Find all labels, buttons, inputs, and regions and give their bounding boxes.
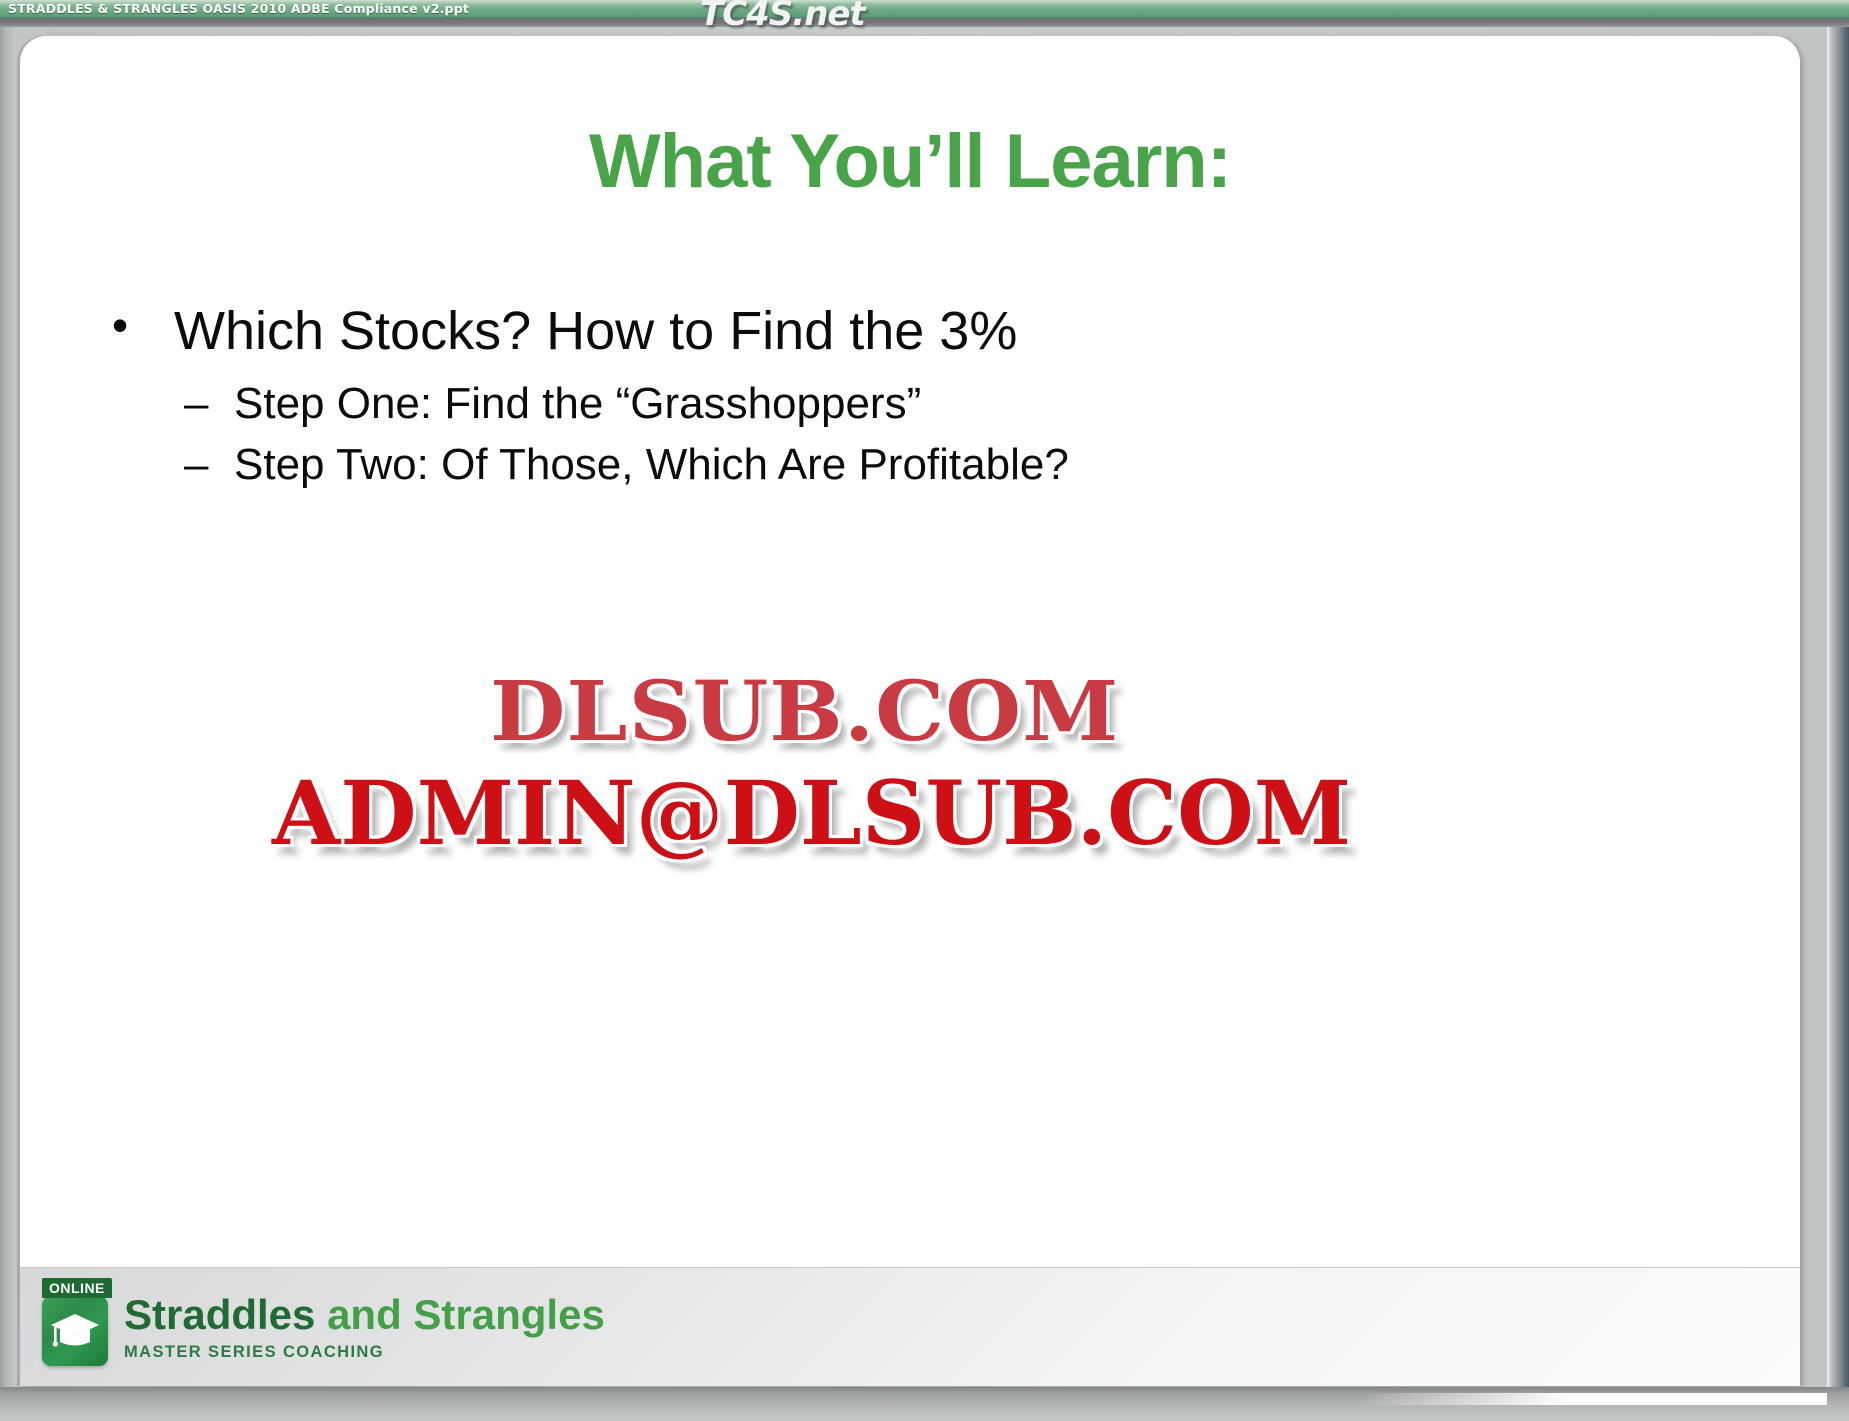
brand-logo: ONLINE Straddles and Strangles: [32, 1278, 605, 1374]
window-title-text: STRADDLES & STRANGLES OASIS 2010 ADBE Co…: [8, 1, 469, 16]
bullet-marker-dash: –: [184, 378, 234, 431]
presentation-slide: What You’ll Learn: • Which Stocks? How t…: [20, 36, 1800, 1386]
page-title: What You’ll Learn:: [20, 118, 1800, 205]
window-bottom-bar: [0, 1387, 1849, 1421]
logo-tile: [42, 1296, 108, 1366]
slide-footer: ONLINE Straddles and Strangles: [20, 1267, 1800, 1386]
online-badge: ONLINE: [42, 1278, 112, 1298]
logo-title: Straddles and Strangles: [124, 1294, 605, 1336]
bullet-text: Which Stocks? How to Find the 3%: [174, 300, 1017, 362]
bottom-bar-highlight: [1357, 1393, 1827, 1405]
bullet-list: • Which Stocks? How to Find the 3% – Ste…: [112, 300, 1672, 500]
titlebar-underline: [0, 18, 1849, 27]
window-left-edge: [0, 27, 6, 1397]
vertical-scrollbar[interactable]: [1827, 27, 1849, 1397]
site-watermark-tc4s: TC4S.net: [700, 0, 865, 34]
logo-title-primary: Straddles: [124, 1291, 315, 1338]
bullet-text: Step Two: Of Those, Which Are Profitable…: [234, 439, 1069, 492]
graduation-cap-icon: [50, 1312, 100, 1352]
bullet-marker-dot: •: [112, 300, 174, 351]
watermark-email: ADMIN@DLSUB.COM: [272, 761, 1351, 865]
bullet-item-level2: – Step One: Find the “Grasshoppers”: [184, 378, 1672, 431]
bullet-text: Step One: Find the “Grasshoppers”: [234, 378, 921, 431]
logo-subtitle: MASTER SERIES COACHING: [124, 1343, 605, 1362]
window-titlebar: STRADDLES & STRANGLES OASIS 2010 ADBE Co…: [0, 0, 1849, 18]
watermark-domain: DLSUB.COM: [490, 664, 1119, 760]
application-window: STRADDLES & STRANGLES OASIS 2010 ADBE Co…: [0, 0, 1849, 1421]
bullet-item-level1: • Which Stocks? How to Find the 3%: [112, 300, 1672, 362]
bullet-marker-dash: –: [184, 439, 234, 492]
logo-title-secondary: and Strangles: [315, 1291, 604, 1338]
bullet-item-level2: – Step Two: Of Those, Which Are Profitab…: [184, 439, 1672, 492]
logo-mark: ONLINE: [32, 1278, 118, 1374]
logo-text-block: Straddles and Strangles MASTER SERIES CO…: [124, 1278, 605, 1362]
